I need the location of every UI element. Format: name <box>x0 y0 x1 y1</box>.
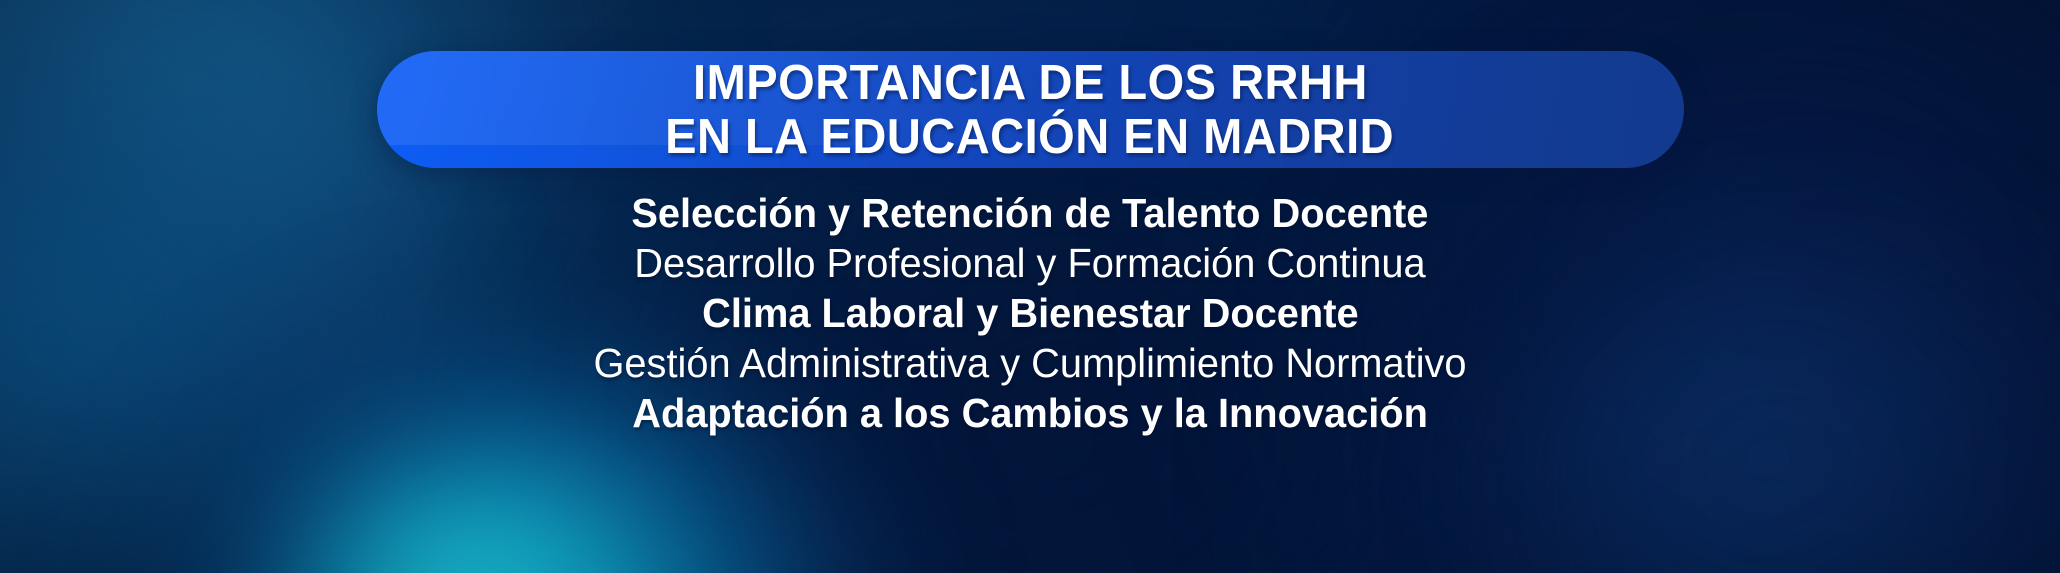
title-line-1: IMPORTANCIA DE LOS RRHH <box>693 56 1368 110</box>
subtitle-item-desarrollo-profesional: Desarrollo Profesional y Formación Conti… <box>634 238 1425 288</box>
subtitle-item-seleccion-retencion: Selección y Retención de Talento Docente <box>631 188 1428 238</box>
title-line-2: EN LA EDUCACIÓN EN MADRID <box>666 110 1395 164</box>
subtitle-item-adaptacion-innovacion: Adaptación a los Cambios y la Innovación <box>632 388 1428 438</box>
title-pill: IMPORTANCIA DE LOS RRHH EN LA EDUCACIÓN … <box>377 51 1684 168</box>
subtitle-list: Selección y Retención de Talento Docente… <box>580 188 1480 438</box>
hero-banner: IMPORTANCIA DE LOS RRHH EN LA EDUCACIÓN … <box>0 0 2060 573</box>
subtitle-item-gestion-administrativa: Gestión Administrativa y Cumplimiento No… <box>593 338 1466 388</box>
banner-content: IMPORTANCIA DE LOS RRHH EN LA EDUCACIÓN … <box>0 0 2060 573</box>
subtitle-item-clima-laboral: Clima Laboral y Bienestar Docente <box>702 288 1358 338</box>
